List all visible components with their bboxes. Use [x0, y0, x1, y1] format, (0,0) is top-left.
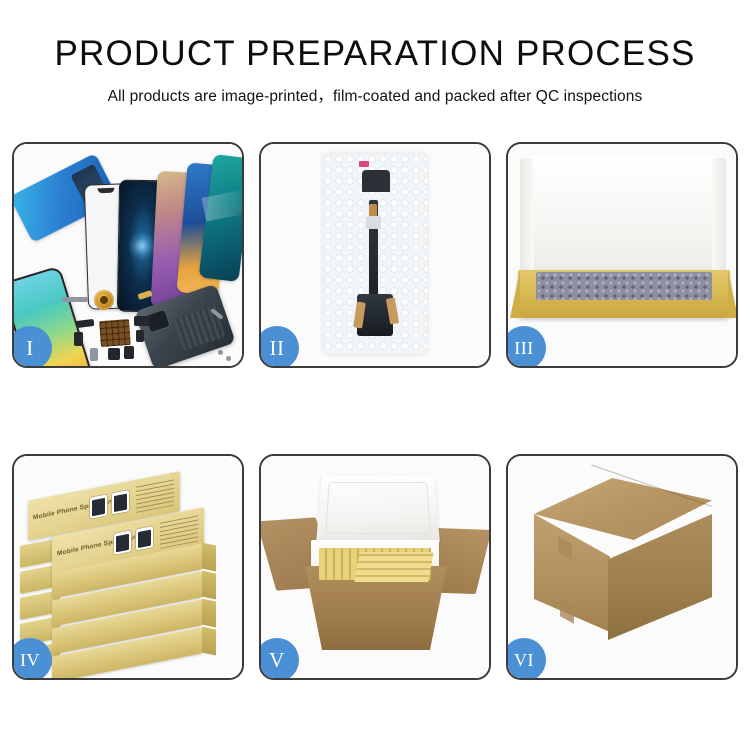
bubble-wrap-bag [323, 154, 427, 354]
page-subtitle: All products are image-printed，film-coat… [0, 84, 750, 106]
step-image-bubble-wrap [261, 144, 489, 366]
bag-label-tag [359, 161, 369, 167]
spare-part-sim-tray [90, 348, 98, 361]
step-image-carton-packing [261, 456, 489, 678]
spare-part-connector [74, 332, 83, 346]
product-preparation-infographic: PRODUCT PREPARATION PROCESS All products… [0, 0, 750, 750]
spare-part-speaker [108, 348, 120, 360]
step-badge-1: I [12, 326, 52, 368]
chip-grid-part [99, 319, 131, 347]
foam-box-lid [316, 475, 440, 544]
box-spec-lines-1 [136, 479, 174, 512]
step-badge-6: VI [506, 638, 546, 680]
step-badge-2: II [259, 326, 299, 368]
spare-part-small-block [136, 330, 144, 342]
step-panel-3: III [506, 142, 738, 368]
screw-1 [218, 350, 223, 355]
step-panel-2: II [259, 142, 491, 368]
steps-grid: I II [12, 142, 738, 680]
wrapped-phone-part [358, 170, 392, 340]
step-image-sealed-carton [508, 456, 736, 678]
step-badge-4: IV [12, 638, 52, 680]
step-image-products-and-parts [14, 144, 242, 366]
screw-2 [226, 356, 231, 361]
header: PRODUCT PREPARATION PROCESS All products… [0, 0, 750, 106]
spare-part-camera [124, 346, 134, 359]
box-spec-lines-2 [160, 515, 198, 548]
grey-foam-insert [536, 272, 712, 300]
step-panel-5: V [259, 454, 491, 680]
carton-top-seam [575, 465, 712, 554]
step-badge-3: III [506, 326, 546, 368]
yellow-boxes-row-2 [354, 552, 433, 582]
step-panel-1: I [12, 142, 244, 368]
spare-part-strip [62, 297, 88, 302]
step-panel-6: VI [506, 454, 738, 680]
copper-coil-part [94, 290, 114, 310]
spare-part-module [134, 316, 150, 326]
step-badge-5: V [259, 638, 299, 680]
box-lid-white [528, 156, 718, 280]
step-image-foam-tray-box [508, 144, 736, 366]
step-image-boxed-stack: Mobile Phone Spare Parts Mobile Phone Sp… [14, 456, 242, 678]
box-stack: Mobile Phone Spare Parts Mobile Phone Sp… [18, 478, 238, 668]
page-title: PRODUCT PREPARATION PROCESS [0, 36, 750, 71]
step-panel-4: Mobile Phone Spare Parts Mobile Phone Sp… [12, 454, 244, 680]
